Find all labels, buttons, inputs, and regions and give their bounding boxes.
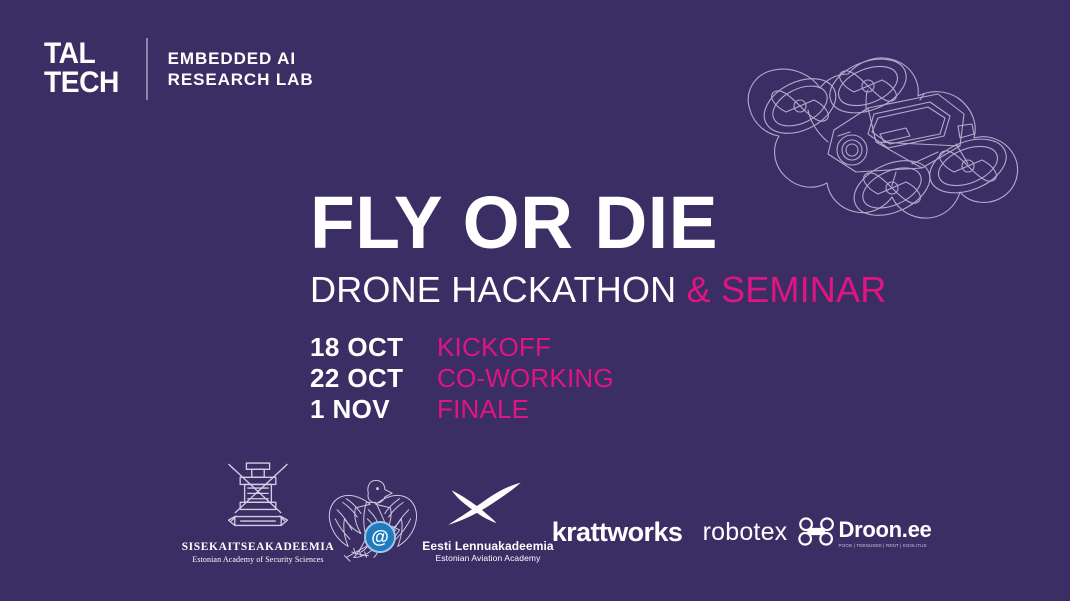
schedule-list: 18 OCT KICKOFF 22 OCT CO-WORKING 1 NOV F… bbox=[310, 332, 614, 425]
taltech-wordmark: TAL TECH bbox=[44, 36, 119, 102]
sponsor-logo-strip: SISEKAITSEAKADEEMIA Estonian Academy of … bbox=[170, 455, 930, 570]
sponsor-caption-sub: Estonian Aviation Academy bbox=[422, 554, 553, 564]
aviation-academy-bird-icon bbox=[443, 480, 533, 535]
eagle-emblem-icon: @ bbox=[324, 473, 420, 568]
sponsor-logo-robotex: robotex bbox=[690, 518, 800, 547]
schedule-row: 18 OCT KICKOFF bbox=[310, 332, 614, 363]
page-title: FLY OR DIE bbox=[310, 186, 944, 260]
lab-name-line1: EMBEDDED AI bbox=[168, 48, 314, 69]
schedule-label: CO-WORKING bbox=[437, 363, 614, 394]
sponsor-logo-krattworks: krattworks bbox=[552, 517, 682, 548]
sponsor-logo-droonee: Droon.ee POOD | TEENUSED | RENT | KOOLIT… bbox=[798, 516, 930, 552]
sponsor-caption: SISEKAITSEAKADEEMIA Estonian Academy of … bbox=[182, 541, 335, 564]
krattworks-wordmark: krattworks bbox=[552, 517, 683, 548]
sponsor-caption-main: Eesti Lennuakadeemia bbox=[422, 540, 553, 554]
robotex-wordmark: robotex bbox=[703, 518, 788, 547]
sponsor-logo-eesti-lennuakadeemia: Eesti Lennuakadeemia Estonian Aviation A… bbox=[420, 480, 556, 564]
sponsor-caption-main: SISEKAITSEAKADEEMIA bbox=[182, 541, 335, 554]
schedule-label: KICKOFF bbox=[437, 332, 551, 363]
subtitle-accent: & SEMINAR bbox=[687, 269, 887, 310]
poster-canvas: TAL TECH EMBEDDED AI RESEARCH LAB bbox=[0, 0, 1070, 601]
at-symbol-badge: @ bbox=[364, 521, 396, 553]
taltech-wordmark-line1: TAL bbox=[44, 40, 119, 69]
sponsor-caption: Eesti Lennuakadeemia Estonian Aviation A… bbox=[422, 540, 553, 564]
schedule-row: 1 NOV FINALE bbox=[310, 394, 614, 425]
logo-divider bbox=[146, 38, 148, 100]
schedule-date: 22 OCT bbox=[310, 363, 437, 394]
sponsor-logo-eagle-at-emblem: @ bbox=[318, 473, 426, 568]
sponsor-caption-sub: Estonian Academy of Security Sciences bbox=[182, 555, 335, 564]
subtitle-main: DRONE HACKATHON bbox=[310, 269, 687, 310]
taltech-logo: TAL TECH EMBEDDED AI RESEARCH LAB bbox=[44, 36, 314, 102]
page-subtitle: DRONE HACKATHON & SEMINAR bbox=[310, 272, 950, 308]
droonee-wordmark: Droon.ee bbox=[839, 519, 932, 541]
schedule-date: 1 NOV bbox=[310, 394, 437, 425]
lab-name: EMBEDDED AI RESEARCH LAB bbox=[168, 36, 314, 102]
headline-block: FLY OR DIE DRONE HACKATHON & SEMINAR bbox=[310, 186, 950, 308]
schedule-date: 18 OCT bbox=[310, 332, 437, 363]
security-academy-crest-icon bbox=[217, 454, 299, 536]
taltech-wordmark-line2: TECH bbox=[44, 69, 119, 98]
schedule-label: FINALE bbox=[437, 394, 529, 425]
schedule-row: 22 OCT CO-WORKING bbox=[310, 363, 614, 394]
droonee-tagline: POOD | TEENUSED | RENT | KOOLITUS bbox=[839, 543, 932, 549]
sponsor-logo-sisekaitseakadeemia: SISEKAITSEAKADEEMIA Estonian Academy of … bbox=[188, 454, 328, 564]
droonee-drone-icon bbox=[797, 516, 837, 552]
lab-name-line2: RESEARCH LAB bbox=[168, 69, 314, 90]
